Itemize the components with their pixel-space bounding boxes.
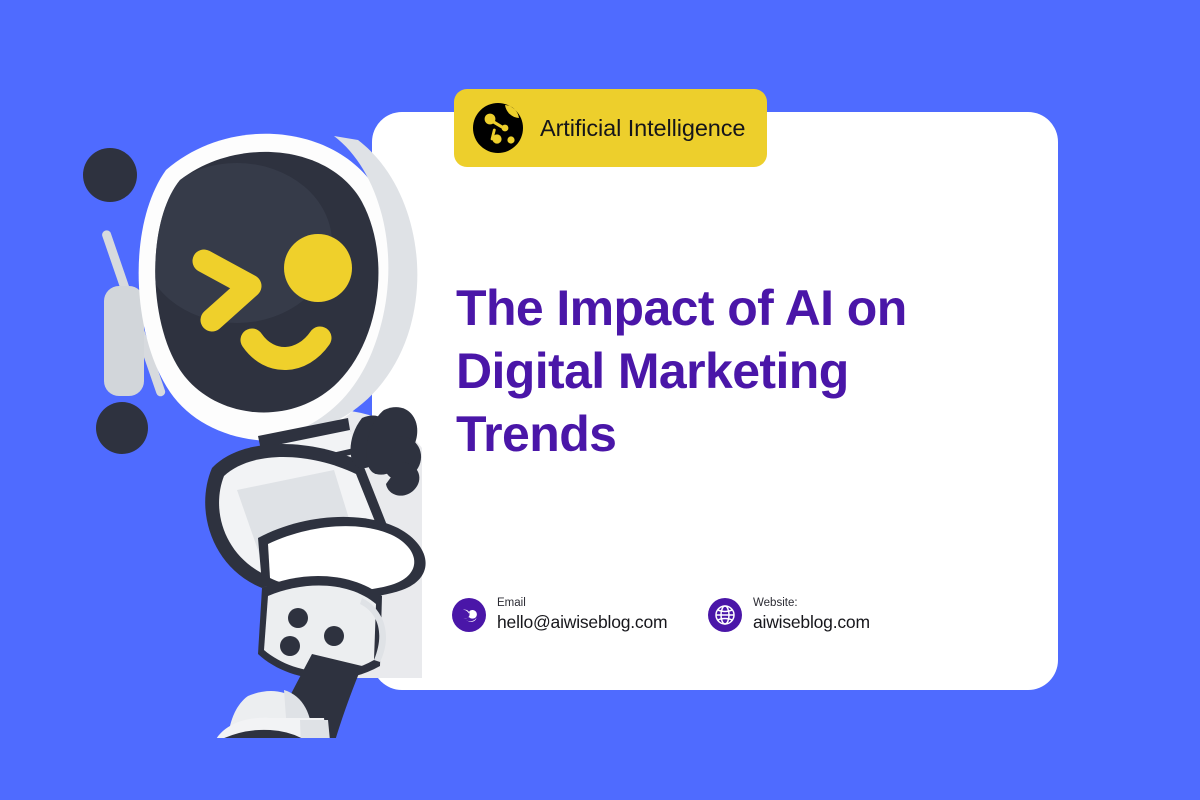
contact-row: Email hello@aiwiseblog.com Website: aiwi…	[452, 597, 870, 632]
category-badge[interactable]: Artificial Intelligence	[454, 89, 767, 167]
contact-website[interactable]: Website: aiwiseblog.com	[708, 597, 870, 632]
email-label: Email	[497, 597, 667, 610]
globe-circle-icon	[708, 598, 742, 632]
website-label: Website:	[753, 597, 870, 610]
email-value: hello@aiwiseblog.com	[497, 612, 667, 632]
contact-email[interactable]: Email hello@aiwiseblog.com	[452, 597, 708, 632]
rivet-icon	[288, 608, 308, 628]
rivet-icon	[280, 636, 300, 656]
ai-network-logo-icon	[472, 102, 524, 154]
antenna-ball-icon	[83, 148, 137, 202]
poster-canvas: Artificial Intelligence The Impact of AI…	[0, 0, 1200, 800]
badge-label: Artificial Intelligence	[540, 115, 745, 142]
page-title: The Impact of AI on Digital Marketing Tr…	[456, 277, 1001, 466]
robot-eye	[284, 234, 352, 302]
website-value: aiwiseblog.com	[753, 612, 870, 632]
robot-mascot-illustration	[62, 118, 462, 738]
rivet-icon	[324, 626, 344, 646]
